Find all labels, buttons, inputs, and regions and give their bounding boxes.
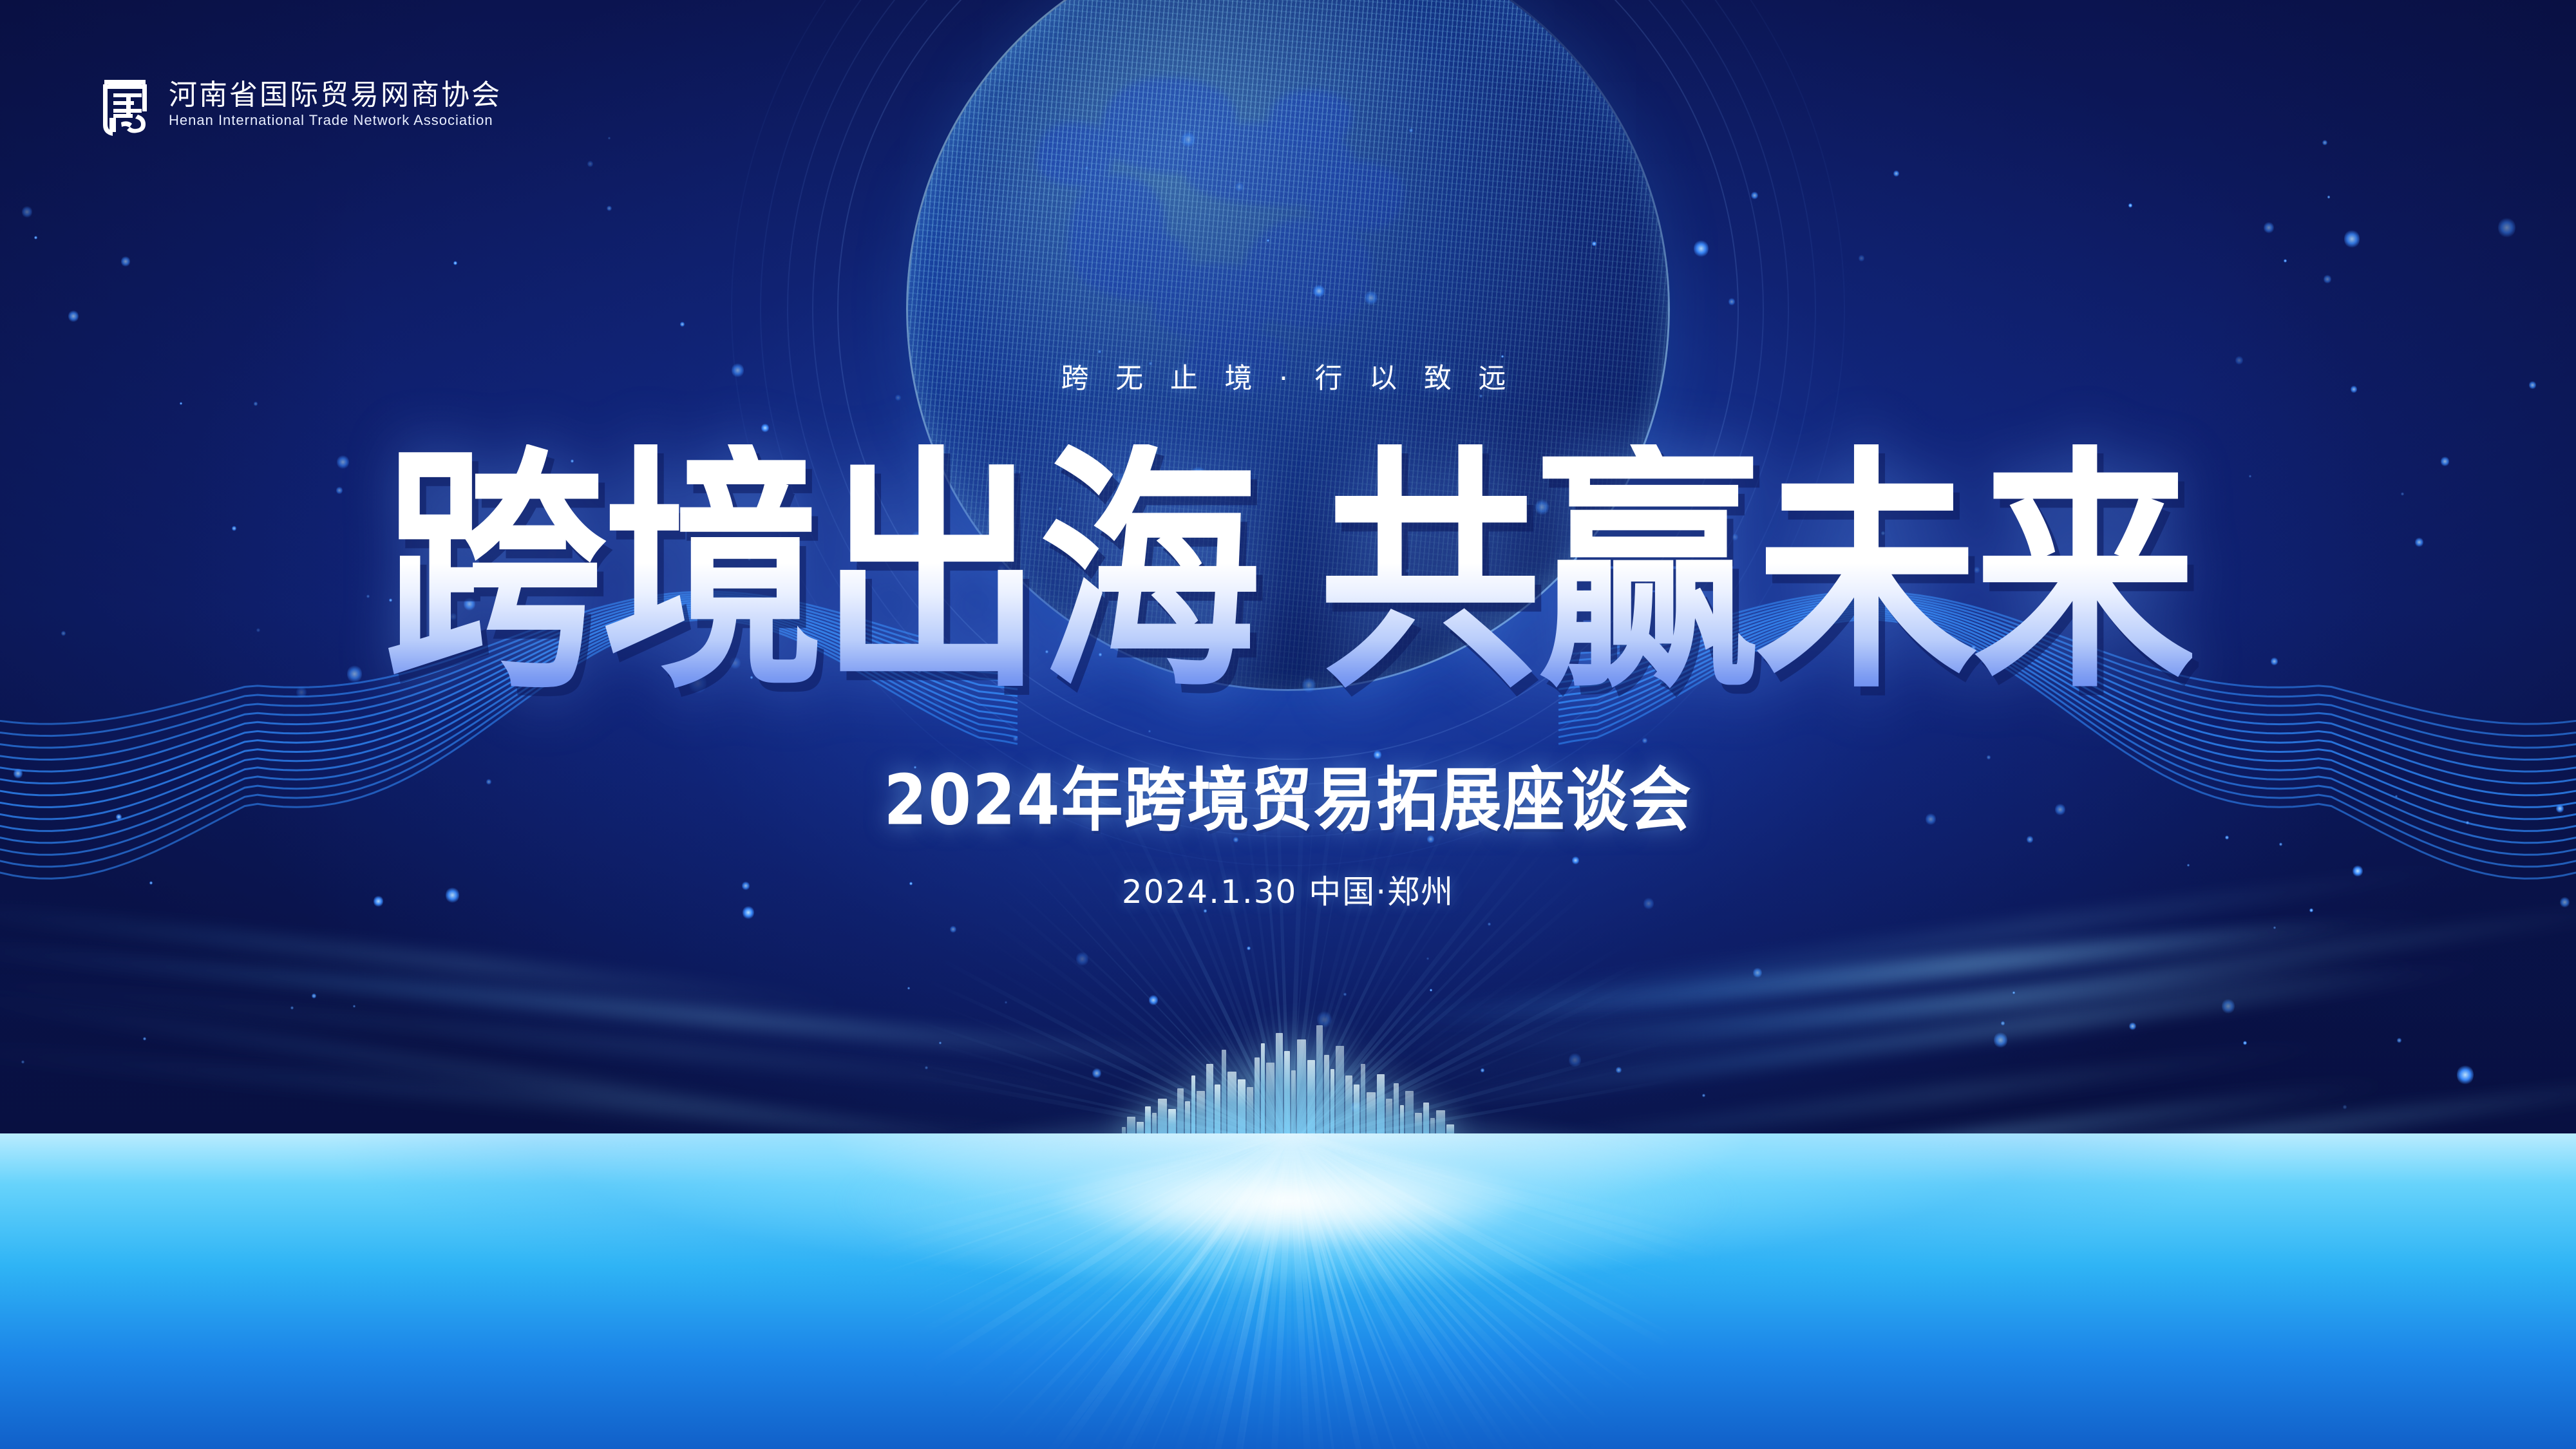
association-logo: 河南省国际贸易网商协会 Henan International Trade Ne… bbox=[95, 72, 502, 137]
event-subtitle: 2024年跨境贸易拓展座谈会 bbox=[884, 744, 1692, 844]
logo-org-name-cn: 河南省国际贸易网商协会 bbox=[169, 80, 502, 110]
logo-org-name-en: Henan International Trade Network Associ… bbox=[169, 113, 502, 128]
page-title: 跨境出海 共赢未来 bbox=[384, 444, 2192, 667]
poster-canvas: 河南省国际贸易网商协会 Henan International Trade Ne… bbox=[0, 0, 2576, 1449]
headline-part-1: 跨境出海 bbox=[384, 444, 1257, 702]
tagline: 跨 无 止 境 · 行 以 致 远 bbox=[1061, 356, 1515, 396]
headline-part-2: 共赢未来 bbox=[1319, 444, 2192, 702]
horizon-glow-core bbox=[805, 1095, 1771, 1307]
seal-monogram-icon bbox=[95, 72, 155, 137]
event-datetime-location: 2024.1.30 中国·郑州 bbox=[1122, 866, 1454, 913]
